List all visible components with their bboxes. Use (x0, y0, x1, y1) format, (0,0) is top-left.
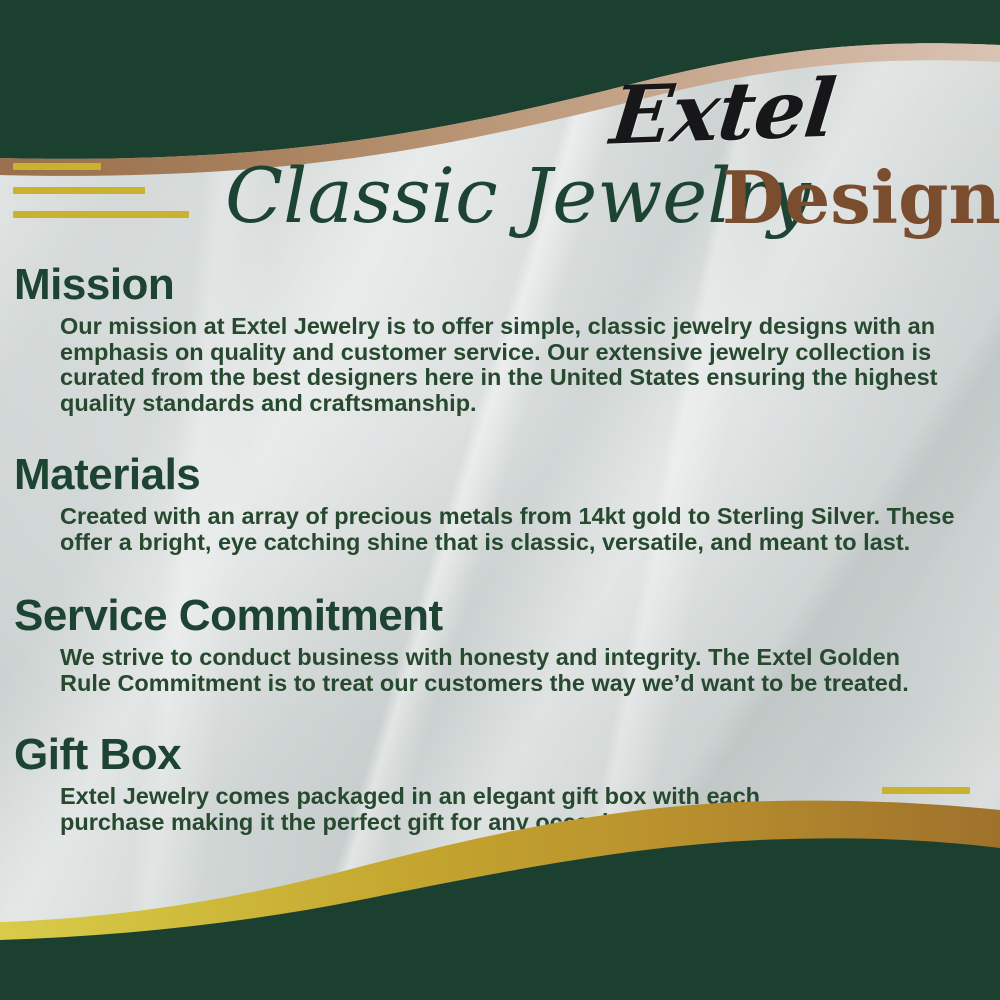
decor-rule-4 (882, 787, 970, 794)
decor-rules-top-left (13, 163, 189, 235)
decor-rule-2 (13, 187, 145, 194)
section-mission: Mission Our mission at Extel Jewelry is … (0, 258, 1000, 416)
section-service-commitment: Service Commitment We strive to conduct … (0, 589, 1000, 696)
brand-logo-extel: Extel (607, 61, 878, 160)
decor-rule-3 (13, 211, 189, 218)
section-body-service-commitment: We strive to conduct business with hones… (60, 645, 955, 696)
section-heading-materials: Materials (14, 448, 1000, 502)
bottom-banner-wave (0, 800, 1000, 1000)
title-design: Design (722, 152, 1000, 244)
poster-canvas: Extel Classic Jewelry Design Mission Our… (0, 0, 1000, 1000)
content-sections: Mission Our mission at Extel Jewelry is … (0, 258, 1000, 841)
section-body-mission: Our mission at Extel Jewelry is to offer… (60, 314, 970, 416)
section-body-materials: Created with an array of precious metals… (60, 504, 970, 555)
decor-rule-1 (13, 163, 101, 170)
section-heading-service-commitment: Service Commitment (14, 589, 1000, 643)
section-heading-gift-box: Gift Box (14, 728, 1000, 782)
section-heading-mission: Mission (14, 258, 1000, 312)
section-materials: Materials Created with an array of preci… (0, 448, 1000, 555)
